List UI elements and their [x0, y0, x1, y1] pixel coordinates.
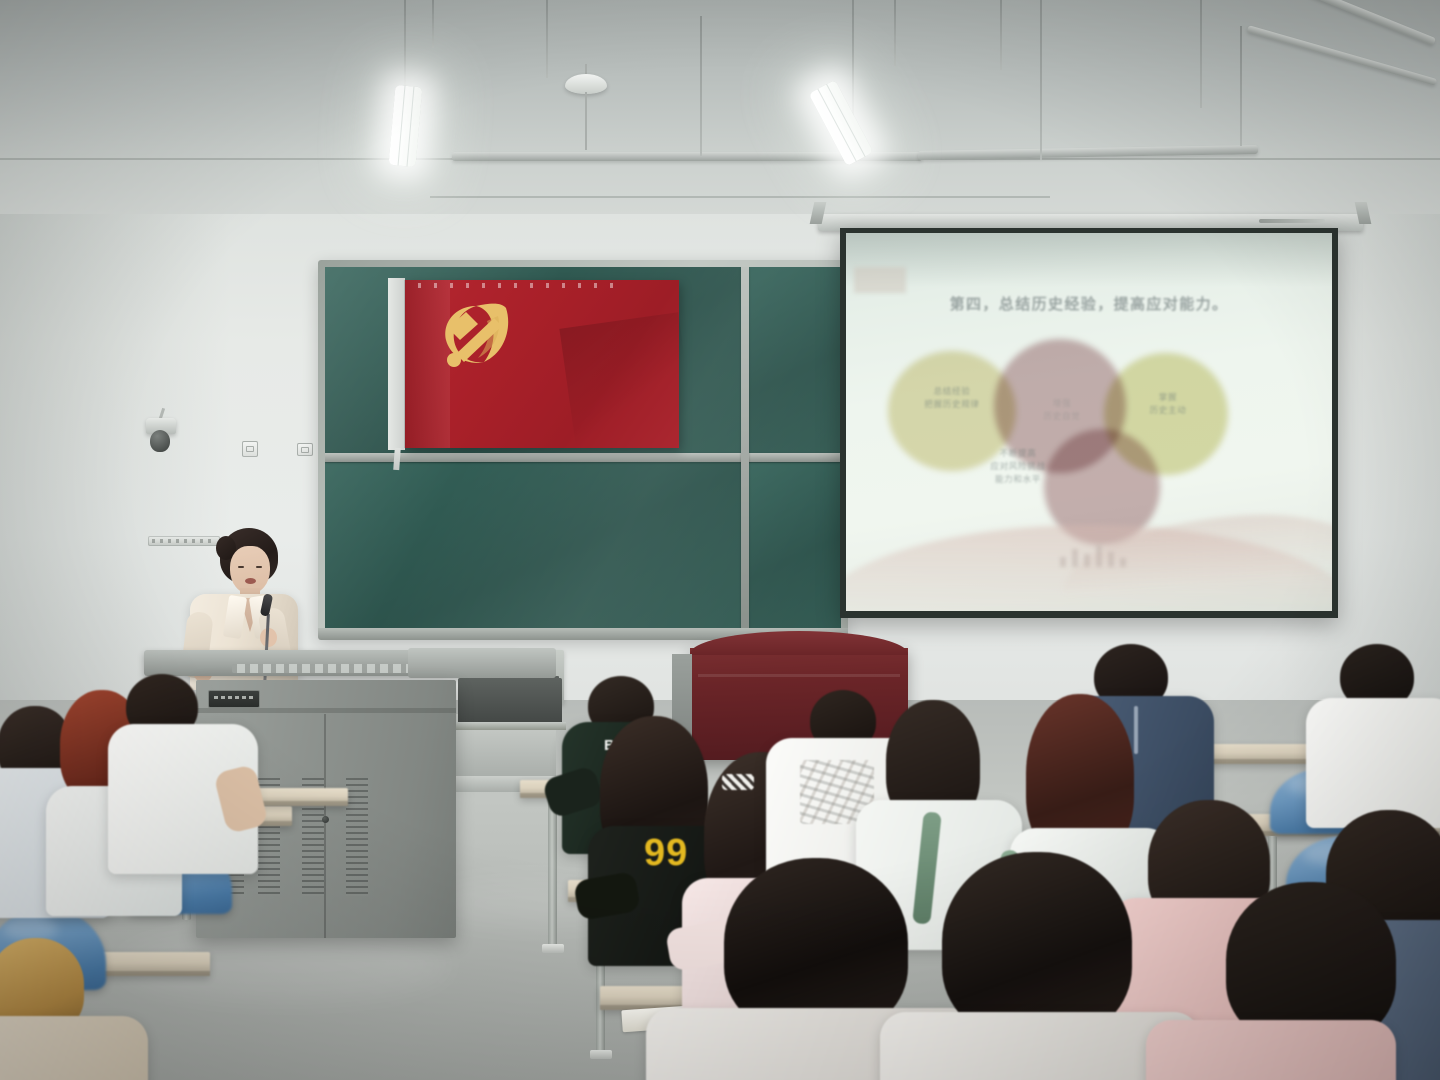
student-left-4 — [0, 938, 138, 1080]
slide-circle-4-label: 不断提高 应对风险挑战 能力和水平 — [964, 447, 1072, 486]
hammer-and-sickle-icon — [432, 302, 532, 386]
slide-skyline-bars — [1060, 541, 1140, 567]
slide-circle-3-label: 掌握 历史主动 — [1124, 391, 1212, 417]
student-right-2 — [1318, 644, 1440, 814]
slide-title: 第四，总结历史经验，提高应对能力。 — [846, 293, 1332, 314]
cpc-party-flag — [404, 280, 679, 448]
student-fg-3 — [1172, 882, 1412, 1080]
smoke-detector-icon — [565, 74, 607, 94]
wall-socket-2[interactable] — [297, 443, 313, 456]
hair-clip — [722, 774, 754, 790]
student-left-3 — [112, 674, 242, 870]
projection-screen[interactable]: 第四，总结历史经验，提高应对能力。 总结经验 把握历史规律 增强 历史自觉 掌握… — [840, 228, 1338, 618]
presentation-slide: 第四，总结历史经验，提高应对能力。 总结经验 把握历史规律 增强 历史自觉 掌握… — [846, 233, 1332, 611]
classroom-photo: 第四，总结历史经验，提高应对能力。 总结经验 把握历史规律 增强 历史自觉 掌握… — [0, 0, 1440, 1080]
wall-socket-1[interactable] — [242, 441, 258, 457]
cctv-camera-icon — [140, 418, 180, 456]
slide-circle-2-label: 增强 历史自觉 — [1022, 397, 1102, 423]
student-fg-2 — [900, 852, 1180, 1080]
slide-corner-tag — [854, 267, 906, 293]
slide-circle-1-label: 总结经验 把握历史规律 — [902, 385, 1002, 411]
keyboard-drawer[interactable] — [458, 678, 562, 724]
